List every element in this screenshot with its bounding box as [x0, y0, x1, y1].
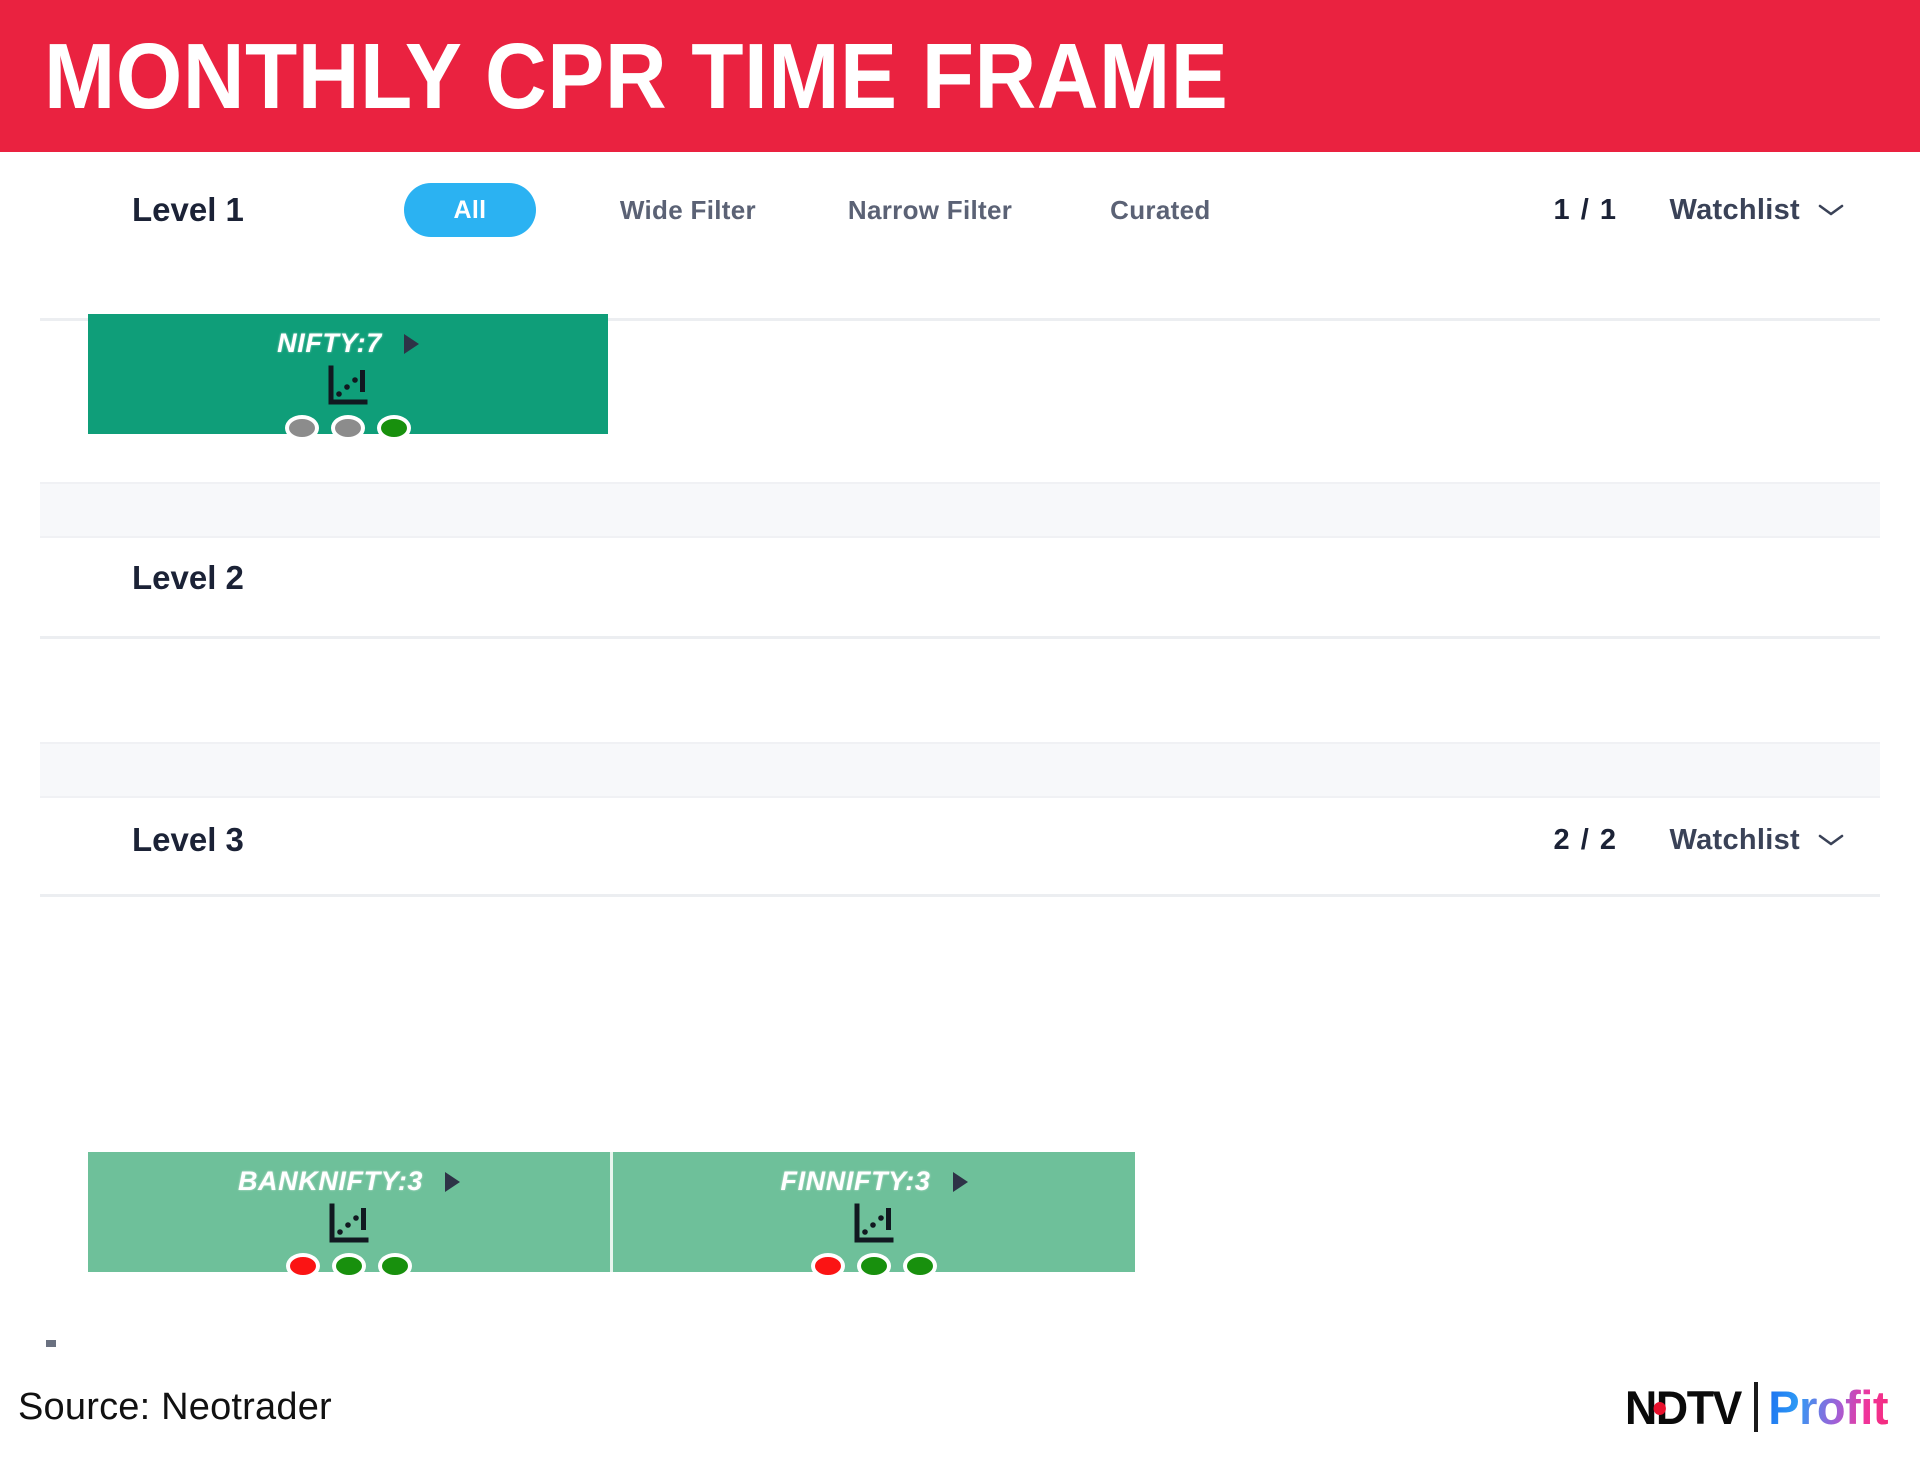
status-dot-2: [332, 1253, 366, 1279]
filter-tab-all[interactable]: All: [404, 183, 536, 237]
source-attribution: Source: Neotrader: [18, 1386, 332, 1429]
ndtv-text: NDTV: [1625, 1381, 1741, 1434]
tile-head: NIFTY:7: [277, 328, 419, 359]
status-dot-group: [286, 1253, 412, 1279]
ndtv-wordmark: NDTV: [1625, 1380, 1741, 1435]
instrument-tile-banknifty[interactable]: BANKNIFTY:3: [88, 1152, 610, 1272]
ndtv-profit-logo: NDTV Profit: [1622, 1380, 1888, 1435]
level-1-title: Level 1: [132, 191, 244, 229]
level-1-header-row: Level 1 All Wide Filter Narrow Filter Cu…: [40, 162, 1880, 258]
status-dot-1: [285, 415, 319, 441]
level-3-tile-row: BANKNIFTY:3: [88, 1152, 1138, 1272]
chevron-down-icon: [1818, 203, 1844, 217]
section-separator-band-2: [40, 742, 1880, 798]
status-dot-1: [811, 1253, 845, 1279]
play-triangle-icon[interactable]: [953, 1172, 968, 1192]
app-screenshot-body: Level 1 All Wide Filter Narrow Filter Cu…: [0, 152, 1920, 1352]
chevron-down-icon: [1818, 833, 1844, 847]
status-dot-3: [903, 1253, 937, 1279]
instrument-name: BANKNIFTY:3: [238, 1166, 423, 1197]
filter-tab-curated[interactable]: Curated: [1100, 189, 1220, 232]
bar-chart-icon[interactable]: [327, 1203, 371, 1245]
status-dot-group: [811, 1253, 937, 1279]
status-dot-2: [331, 415, 365, 441]
status-dot-2: [857, 1253, 891, 1279]
level-3-count: 2 / 2: [1554, 824, 1618, 857]
filter-tab-narrow-filter[interactable]: Narrow Filter: [838, 189, 1022, 232]
screenshot-root: MONTHLY CPR TIME FRAME Level 1 All Wide …: [0, 0, 1920, 1462]
instrument-name: FINNIFTY:3: [780, 1166, 930, 1197]
header-banner: MONTHLY CPR TIME FRAME: [0, 0, 1920, 152]
level-3-divider: [40, 894, 1880, 897]
level-1-count: 1 / 1: [1554, 194, 1618, 227]
level-1-tile-row: NIFTY:7: [88, 314, 608, 434]
page-title: MONTHLY CPR TIME FRAME: [44, 30, 1228, 123]
scroll-artifact-mark: [46, 1340, 56, 1347]
bar-chart-icon[interactable]: [326, 365, 370, 407]
profit-wordmark: Profit: [1768, 1380, 1888, 1435]
level-2-header-row: Level 2: [40, 530, 1880, 626]
level-3-watchlist-selector[interactable]: Watchlist: [1669, 824, 1844, 857]
footer: Source: Neotrader NDTV Profit: [0, 1352, 1920, 1462]
level-2-divider: [40, 636, 1880, 639]
instrument-name: NIFTY:7: [277, 328, 382, 359]
filter-tab-wide-filter[interactable]: Wide Filter: [610, 189, 766, 232]
status-dot-3: [378, 1253, 412, 1279]
level-2-title: Level 2: [132, 559, 244, 597]
level-3-header-row: Level 3 2 / 2 Watchlist: [40, 792, 1880, 888]
status-dot-group: [285, 415, 411, 441]
status-dot-1: [286, 1253, 320, 1279]
tile-head: FINNIFTY:3: [780, 1166, 967, 1197]
play-triangle-icon[interactable]: [445, 1172, 460, 1192]
tile-head: BANKNIFTY:3: [238, 1166, 460, 1197]
logo-divider: [1754, 1382, 1758, 1432]
instrument-tile-nifty[interactable]: NIFTY:7: [88, 314, 608, 434]
play-triangle-icon[interactable]: [404, 334, 419, 354]
level-3-watchlist-label: Watchlist: [1669, 824, 1800, 857]
status-dot-3: [377, 415, 411, 441]
level-1-filter-group: All Wide Filter Narrow Filter Curated: [404, 183, 1221, 237]
level-1-watchlist-label: Watchlist: [1669, 194, 1800, 227]
level-1-watchlist-selector[interactable]: Watchlist: [1669, 194, 1844, 227]
instrument-tile-finnifty[interactable]: FINNIFTY:3: [610, 1152, 1135, 1272]
level-3-title: Level 3: [132, 821, 244, 859]
bar-chart-icon[interactable]: [852, 1203, 896, 1245]
